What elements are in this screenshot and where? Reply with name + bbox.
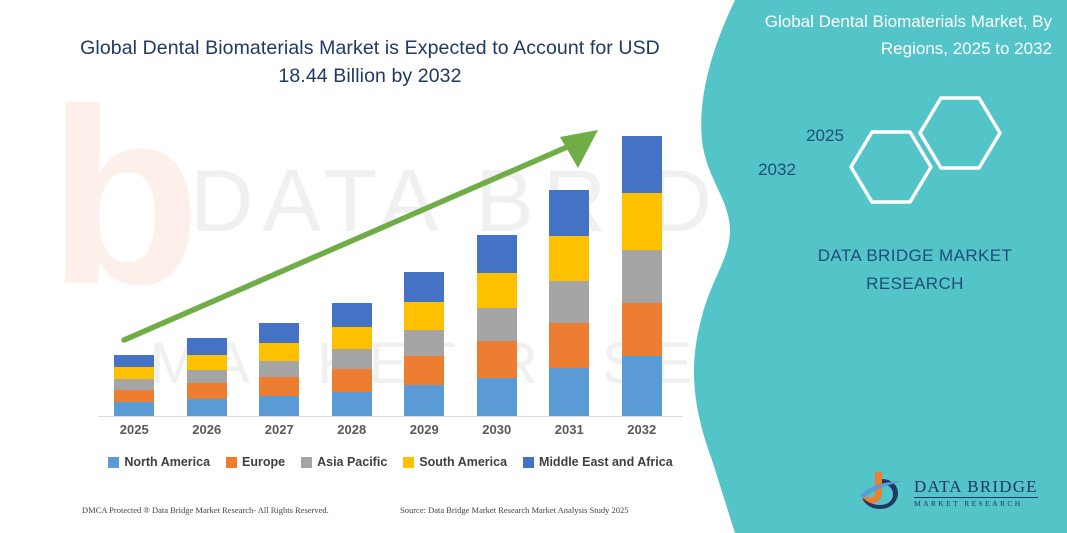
bar-segment — [622, 303, 662, 356]
legend-item[interactable]: Europe — [226, 455, 285, 469]
bar-segment — [549, 190, 589, 236]
bar-segment — [477, 341, 517, 378]
chart-legend: North AmericaEuropeAsia PacificSouth Ame… — [98, 455, 683, 469]
legend-label: Middle East and Africa — [539, 455, 673, 469]
bar-segment — [332, 392, 372, 416]
brand-name-line-1: DATA BRIDGE MARKET — [780, 242, 1050, 270]
legend-swatch-icon — [403, 457, 414, 468]
bar-segment — [477, 273, 517, 308]
bar-segment — [114, 367, 154, 379]
bar-segment — [404, 302, 444, 330]
legend-label: Europe — [242, 455, 285, 469]
hexagon-group — [810, 95, 1040, 220]
bar-segment — [114, 379, 154, 390]
bar-segment — [622, 136, 662, 193]
bar-column — [114, 355, 154, 416]
legend-swatch-icon — [226, 457, 237, 468]
bar-segment — [477, 308, 517, 341]
bar-segment — [187, 338, 227, 355]
logo-subtitle: MARKET RESEARCH — [914, 499, 1038, 509]
page-title: Global Dental Biomaterials Market is Exp… — [60, 34, 680, 90]
bar-segment — [332, 369, 372, 392]
bar-column — [259, 323, 299, 416]
bar-segment — [332, 303, 372, 327]
bar-segment — [187, 399, 227, 416]
bar-segment — [622, 193, 662, 250]
infographic-root: b DATA BRIDGE MARKET RESEARCH Global Den… — [0, 0, 1067, 533]
brand-name-line-2: RESEARCH — [780, 270, 1050, 298]
bar-segment — [332, 349, 372, 369]
bar-segment — [477, 235, 517, 272]
footer: DMCA Protected ® Data Bridge Market Rese… — [0, 505, 720, 525]
bar-segment — [332, 327, 372, 349]
bar-segment — [549, 368, 589, 416]
x-axis-labels: 20252026202720282029203020312032 — [98, 422, 678, 444]
x-axis-tick-label: 2025 — [104, 422, 164, 437]
bar-segment — [114, 355, 154, 367]
bar-column — [187, 338, 227, 416]
bar-segment — [404, 385, 444, 416]
bar-segment — [477, 378, 517, 416]
brand-name: DATA BRIDGE MARKET RESEARCH — [780, 242, 1050, 298]
x-axis-tick-label: 2026 — [177, 422, 237, 437]
logo-divider — [914, 497, 1038, 498]
data-bridge-logo-icon — [858, 469, 906, 515]
legend-swatch-icon — [523, 457, 534, 468]
bar-segment — [549, 281, 589, 323]
bar-segment — [404, 272, 444, 302]
bar-segment — [622, 250, 662, 302]
bar-segment — [114, 390, 154, 402]
bar-segment — [259, 343, 299, 361]
bar-segment — [404, 330, 444, 356]
x-axis-tick-label: 2030 — [467, 422, 527, 437]
footer-source: Source: Data Bridge Market Research Mark… — [400, 505, 629, 515]
brand-panel-title: Global Dental Biomaterials Market, By Re… — [732, 8, 1052, 62]
hexagon-shapes-icon — [810, 95, 1040, 220]
x-axis-tick-label: 2031 — [539, 422, 599, 437]
footer-copyright: DMCA Protected ® Data Bridge Market Rese… — [82, 505, 329, 515]
bar-segment — [187, 383, 227, 399]
legend-item[interactable]: Middle East and Africa — [523, 455, 673, 469]
bar-segment — [259, 323, 299, 343]
bar-column — [404, 271, 444, 416]
bar-segment — [549, 236, 589, 280]
legend-item[interactable]: South America — [403, 455, 507, 469]
legend-label: South America — [419, 455, 507, 469]
bar-segment — [187, 370, 227, 383]
logo-wordmark: DATA BRIDGE MARKET RESEARCH — [914, 477, 1038, 509]
bar-segment — [114, 402, 154, 416]
bar-segment — [259, 361, 299, 377]
legend-item[interactable]: North America — [108, 455, 210, 469]
x-axis-tick-label: 2032 — [612, 422, 672, 437]
bar-segment — [259, 396, 299, 416]
bar-segment — [187, 355, 227, 370]
legend-swatch-icon — [108, 457, 119, 468]
legend-swatch-icon — [301, 457, 312, 468]
legend-label: North America — [124, 455, 210, 469]
bar-column — [622, 136, 662, 416]
bar-column — [549, 190, 589, 416]
company-logo: DATA BRIDGE MARKET RESEARCH — [858, 468, 1058, 516]
legend-label: Asia Pacific — [317, 455, 387, 469]
chart-axis-line — [98, 416, 683, 417]
hexagon-label-start: 2025 — [790, 126, 860, 146]
bar-segment — [259, 377, 299, 396]
bar-segment — [404, 356, 444, 385]
logo-name: DATA BRIDGE — [914, 477, 1038, 496]
x-axis-tick-label: 2029 — [394, 422, 454, 437]
x-axis-tick-label: 2028 — [322, 422, 382, 437]
stacked-bar-chart — [98, 120, 678, 416]
bar-segment — [549, 323, 589, 368]
legend-item[interactable]: Asia Pacific — [301, 455, 387, 469]
chart-panel: Global Dental Biomaterials Market is Exp… — [0, 0, 760, 533]
bar-column — [332, 303, 372, 416]
bar-column — [477, 235, 517, 416]
x-axis-tick-label: 2027 — [249, 422, 309, 437]
bar-segment — [622, 356, 662, 416]
